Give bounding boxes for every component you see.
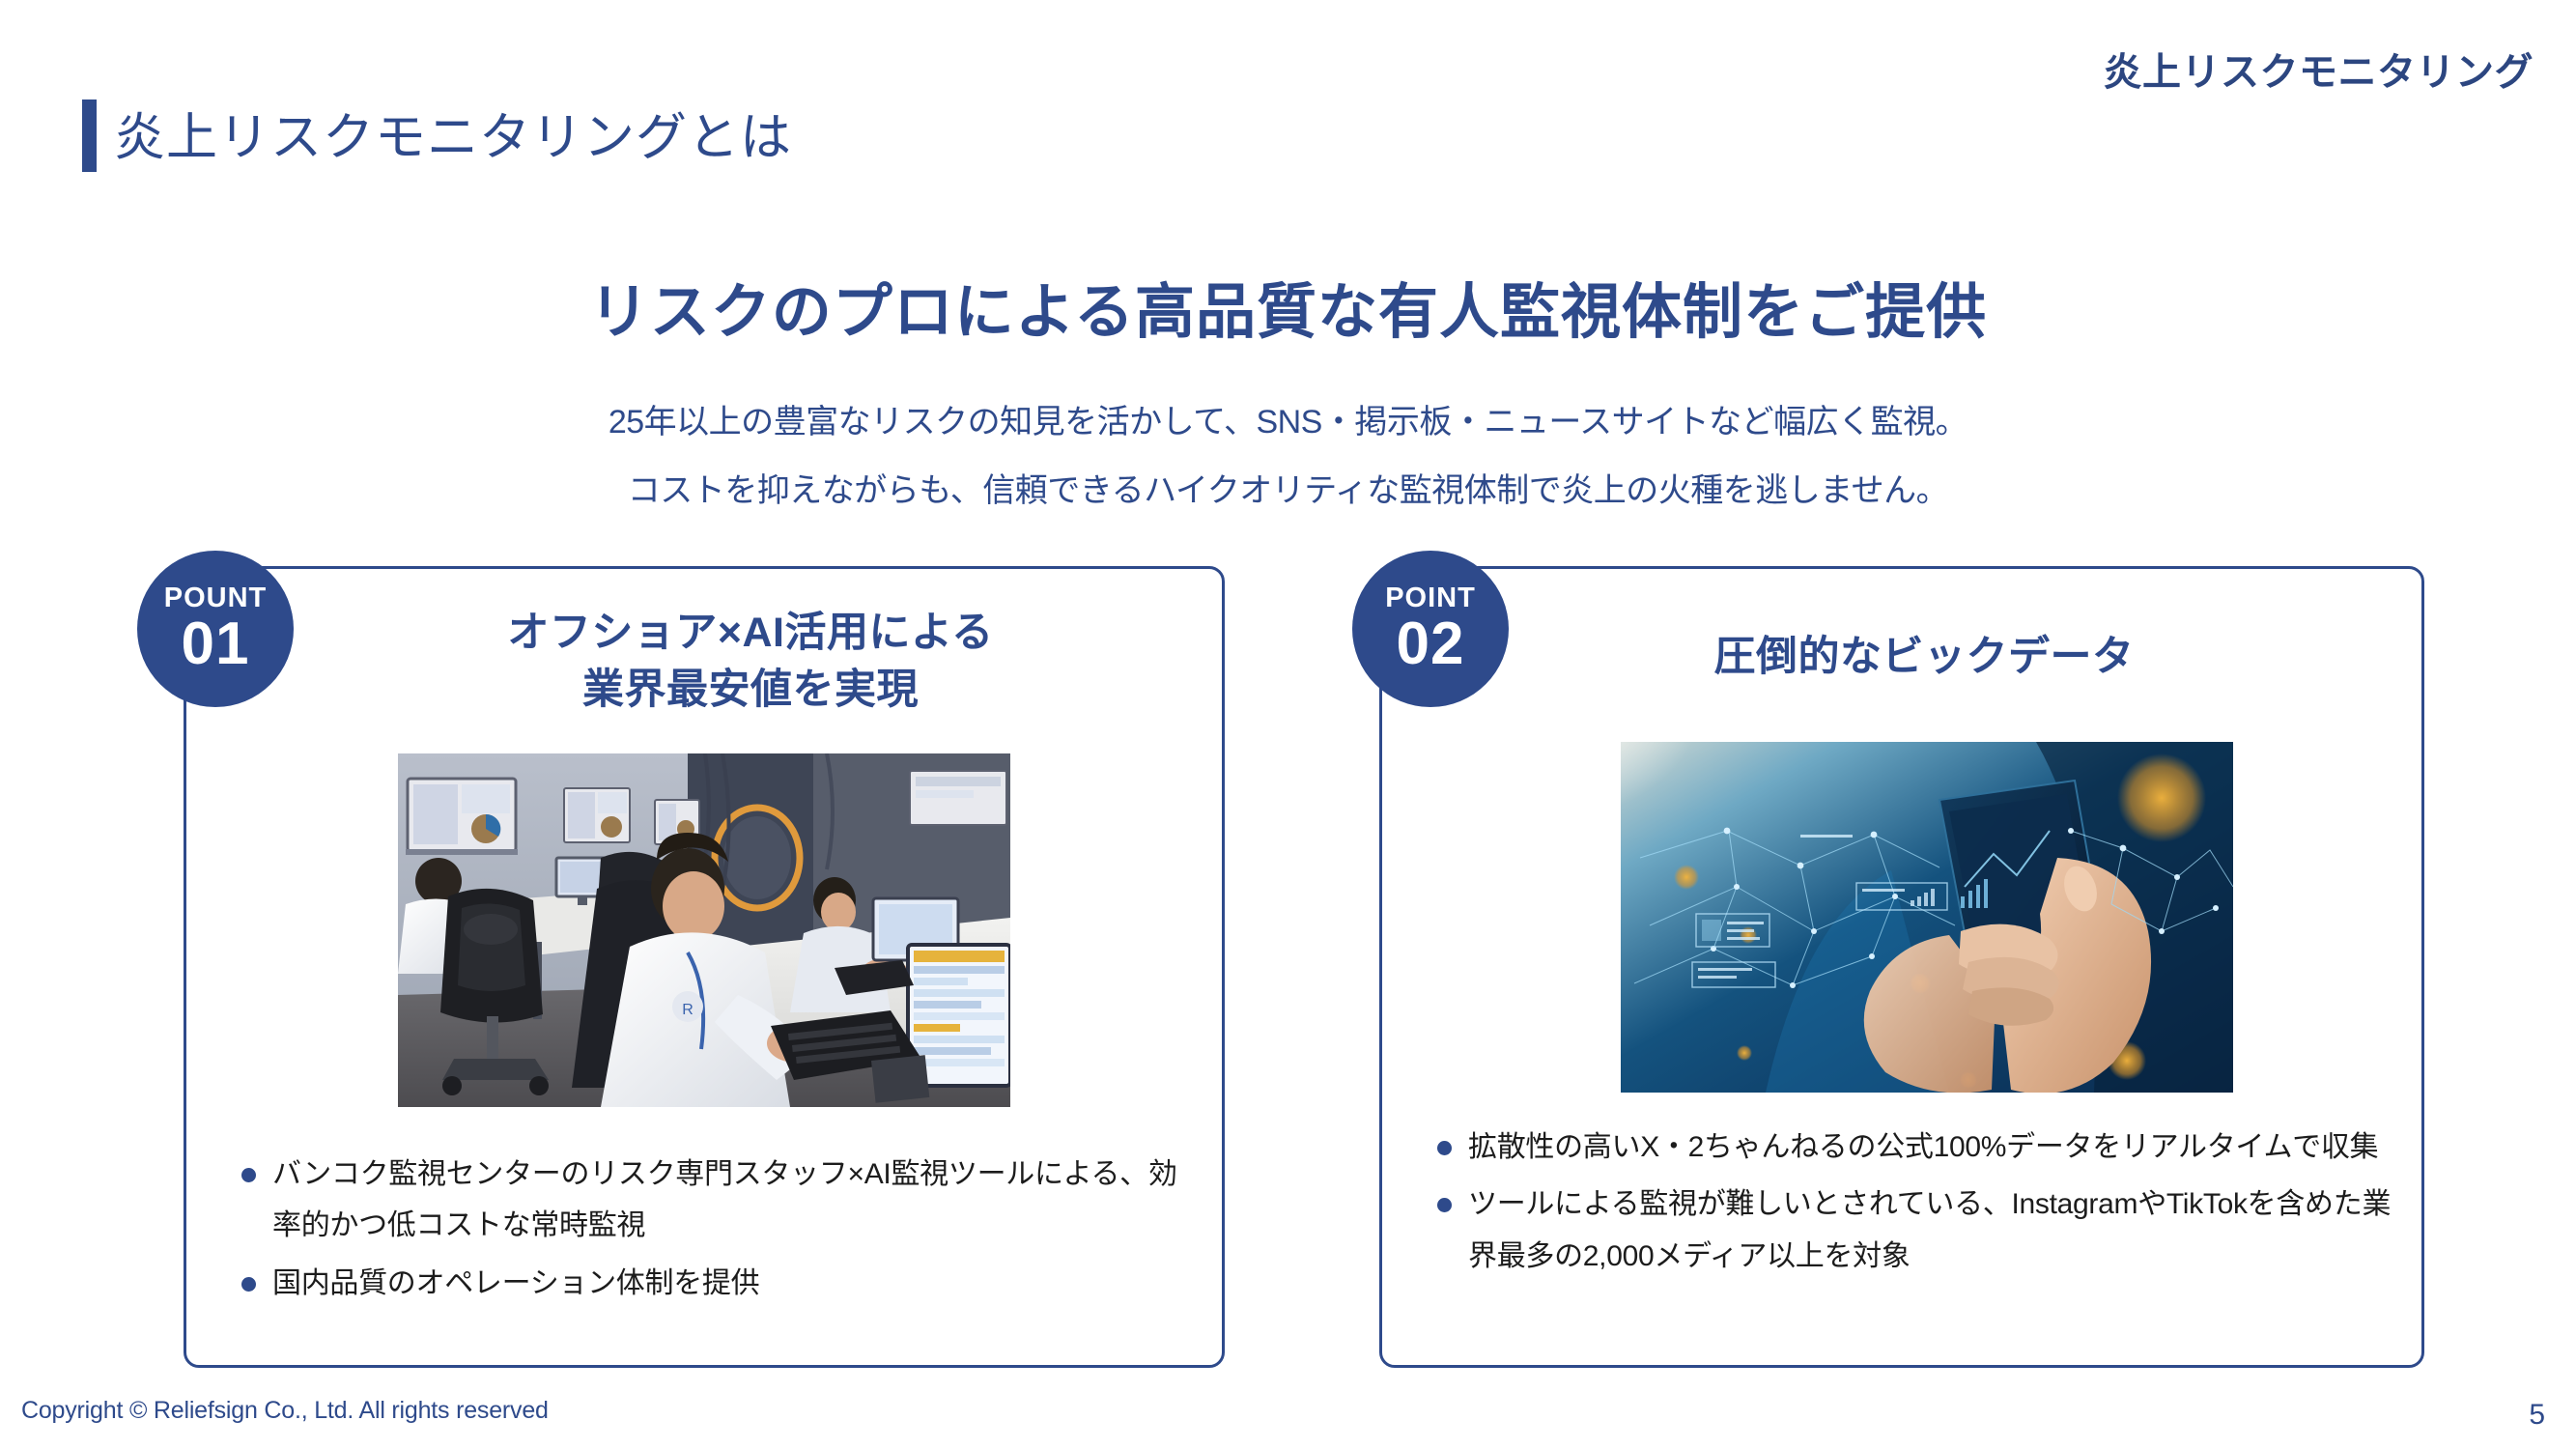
bullet-text: バンコク監視センターのリスク専門スタッフ×AI監視ツールによる、効率的かつ低コス… <box>272 1158 1177 1241</box>
card-02-photo <box>1621 742 2233 1093</box>
point-badge-02-word: POINT <box>1385 584 1476 612</box>
bullet-text: ツールによる監視が難しいとされている、InstagramやTikTokを含めた業… <box>1468 1188 2391 1271</box>
card-01-title-line2: 業界最安値を実現 <box>582 667 919 713</box>
lead-subline-2: コストを抑えながらも、信頼できるハイクオリティな監視体制で炎上の火種を逃しません… <box>0 464 2576 511</box>
page-title: 炎上リスクモニタリングとは <box>114 97 792 170</box>
card-02-title: 圧倒的なビックデータ <box>1382 629 2421 686</box>
card-01-bullet-list: バンコク監視センターのリスク専門スタッフ×AI監視ツールによる、効率的かつ低コス… <box>186 1149 1222 1315</box>
header-accent-bar <box>82 99 97 172</box>
card-01-title: オフショア×AI活用による 業界最安値を実現 <box>186 605 1222 720</box>
svg-text:R: R <box>682 1002 694 1018</box>
footer-page-number: 5 <box>2529 1399 2545 1432</box>
point-badge-02-number: 02 <box>1397 614 1465 674</box>
card-02-bullet-list: 拡散性の高いX・2ちゃんねるの公式100%データをリアルタイムで収集 ツールによ… <box>1382 1122 2421 1288</box>
bullet-text: 拡散性の高いX・2ちゃんねるの公式100%データをリアルタイムで収集 <box>1468 1131 2378 1163</box>
lead-subline-1: 25年以上の豊富なリスクの知見を活かして、SNS・掲示板・ニュースサイトなど幅広… <box>0 395 2576 442</box>
card-02-title-line1: 圧倒的なビックデータ <box>1714 634 2135 680</box>
point-badge-01-word: POUNT <box>164 584 268 612</box>
point-badge-01-number: 01 <box>182 614 250 674</box>
bullet-dot-icon <box>241 1168 256 1182</box>
bullet-dot-icon <box>1437 1198 1452 1212</box>
card-01-photo: R <box>398 753 1010 1107</box>
slide: 炎上リスクモニタリングとは 炎上リスクモニタリング リスクのプロによる高品質な有… <box>0 0 2576 1449</box>
list-item: 拡散性の高いX・2ちゃんねるの公式100%データをリアルタイムで収集 <box>1435 1122 2398 1173</box>
brand-label: 炎上リスクモニタリング <box>2104 41 2534 97</box>
point-badge-01: POUNT 01 <box>137 551 294 707</box>
card-01-title-line1: オフショア×AI活用による <box>507 610 993 656</box>
list-item: ツールによる監視が難しいとされている、InstagramやTikTokを含めた業… <box>1435 1179 2398 1282</box>
bullet-text: 国内品質のオペレーション体制を提供 <box>272 1267 759 1299</box>
lead-headline: リスクのプロによる高品質な有人監視体制をご提供 <box>0 263 2576 350</box>
list-item: バンコク監視センターのリスク専門スタッフ×AI監視ツールによる、効率的かつ低コス… <box>240 1149 1193 1252</box>
bullet-dot-icon <box>241 1277 256 1292</box>
list-item: 国内品質のオペレーション体制を提供 <box>240 1258 1193 1309</box>
footer-copyright: Copyright © Reliefsign Co., Ltd. All rig… <box>21 1397 549 1425</box>
point-badge-02: POINT 02 <box>1352 551 1509 707</box>
bullet-dot-icon <box>1437 1141 1452 1155</box>
